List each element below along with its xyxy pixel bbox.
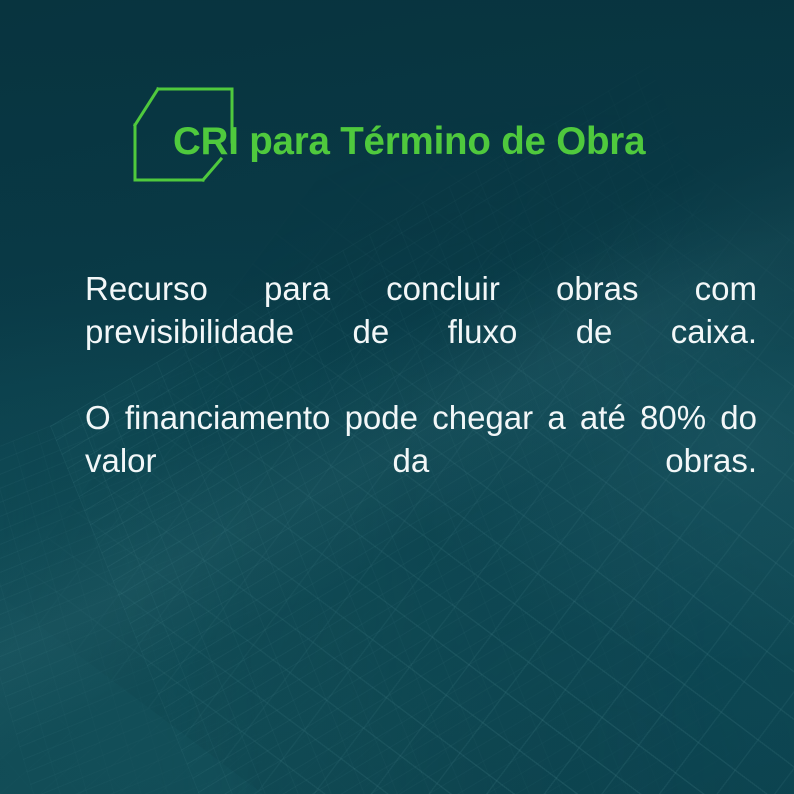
body-paragraph-2: O financiamento pode chegar a até 80% do…: [85, 397, 757, 526]
body-paragraph-1: Recurso para concluir obras com previsib…: [85, 268, 757, 397]
slide-header: CRI para Término de Obra: [0, 0, 794, 230]
page-title: CRI para Término de Obra: [173, 123, 645, 162]
slide-content: CRI para Término de Obra Recurso para co…: [0, 0, 794, 794]
body-copy: Recurso para concluir obras com previsib…: [85, 268, 757, 525]
promotional-slide: CRI para Término de Obra Recurso para co…: [0, 0, 794, 794]
